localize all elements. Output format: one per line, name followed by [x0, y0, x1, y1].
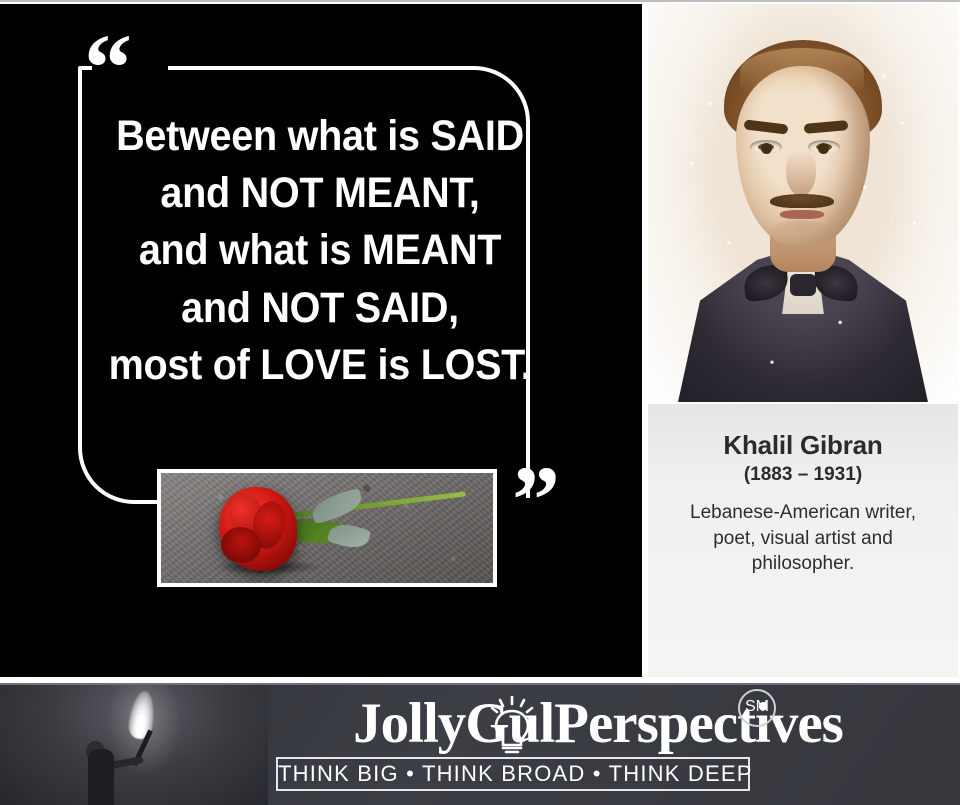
red-rose-on-pavement-photo	[157, 469, 497, 587]
quote-panel: “ Between what is SAID and NOT MEANT, an…	[0, 4, 642, 677]
person-holding-torch-photo	[0, 685, 268, 805]
brand-logo[interactable]: JollyGulPerspectives SM THINK BIG • THIN…	[268, 685, 960, 805]
footer-bar: JollyGulPerspectives SM THINK BIG • THIN…	[0, 683, 960, 805]
brand-tagline: THINK BIG • THINK BROAD • THINK DEEP	[276, 757, 750, 791]
quote-poster: “ Between what is SAID and NOT MEANT, an…	[0, 0, 960, 805]
quote-text: Between what is SAID and NOT MEANT, and …	[72, 108, 569, 394]
brand-name: JollyGulPerspectives	[268, 691, 928, 756]
closing-quote-icon: ”	[512, 452, 560, 548]
quote-line-5: most of LOVE is LOST.	[72, 337, 569, 394]
figure-body	[88, 749, 114, 805]
author-panel: Khalil Gibran (1883 – 1931) Lebanese-Ame…	[646, 4, 960, 677]
portrait-speckle-texture	[648, 4, 958, 402]
author-dates: (1883 – 1931)	[662, 464, 944, 486]
quote-line-1: Between what is SAID	[72, 108, 569, 165]
quote-line-4: and NOT SAID,	[72, 280, 569, 337]
author-description: Lebanese-American writer, poet, visual a…	[662, 500, 944, 577]
quote-line-2: and NOT MEANT,	[72, 165, 569, 222]
khalil-gibran-portrait	[648, 4, 958, 402]
service-mark-badge: SM	[738, 689, 776, 727]
opening-quote-icon: “	[84, 20, 132, 116]
quote-line-3: and what is MEANT	[72, 222, 569, 279]
author-caption: Khalil Gibran (1883 – 1931) Lebanese-Ame…	[648, 404, 958, 677]
author-name: Khalil Gibran	[662, 430, 944, 461]
